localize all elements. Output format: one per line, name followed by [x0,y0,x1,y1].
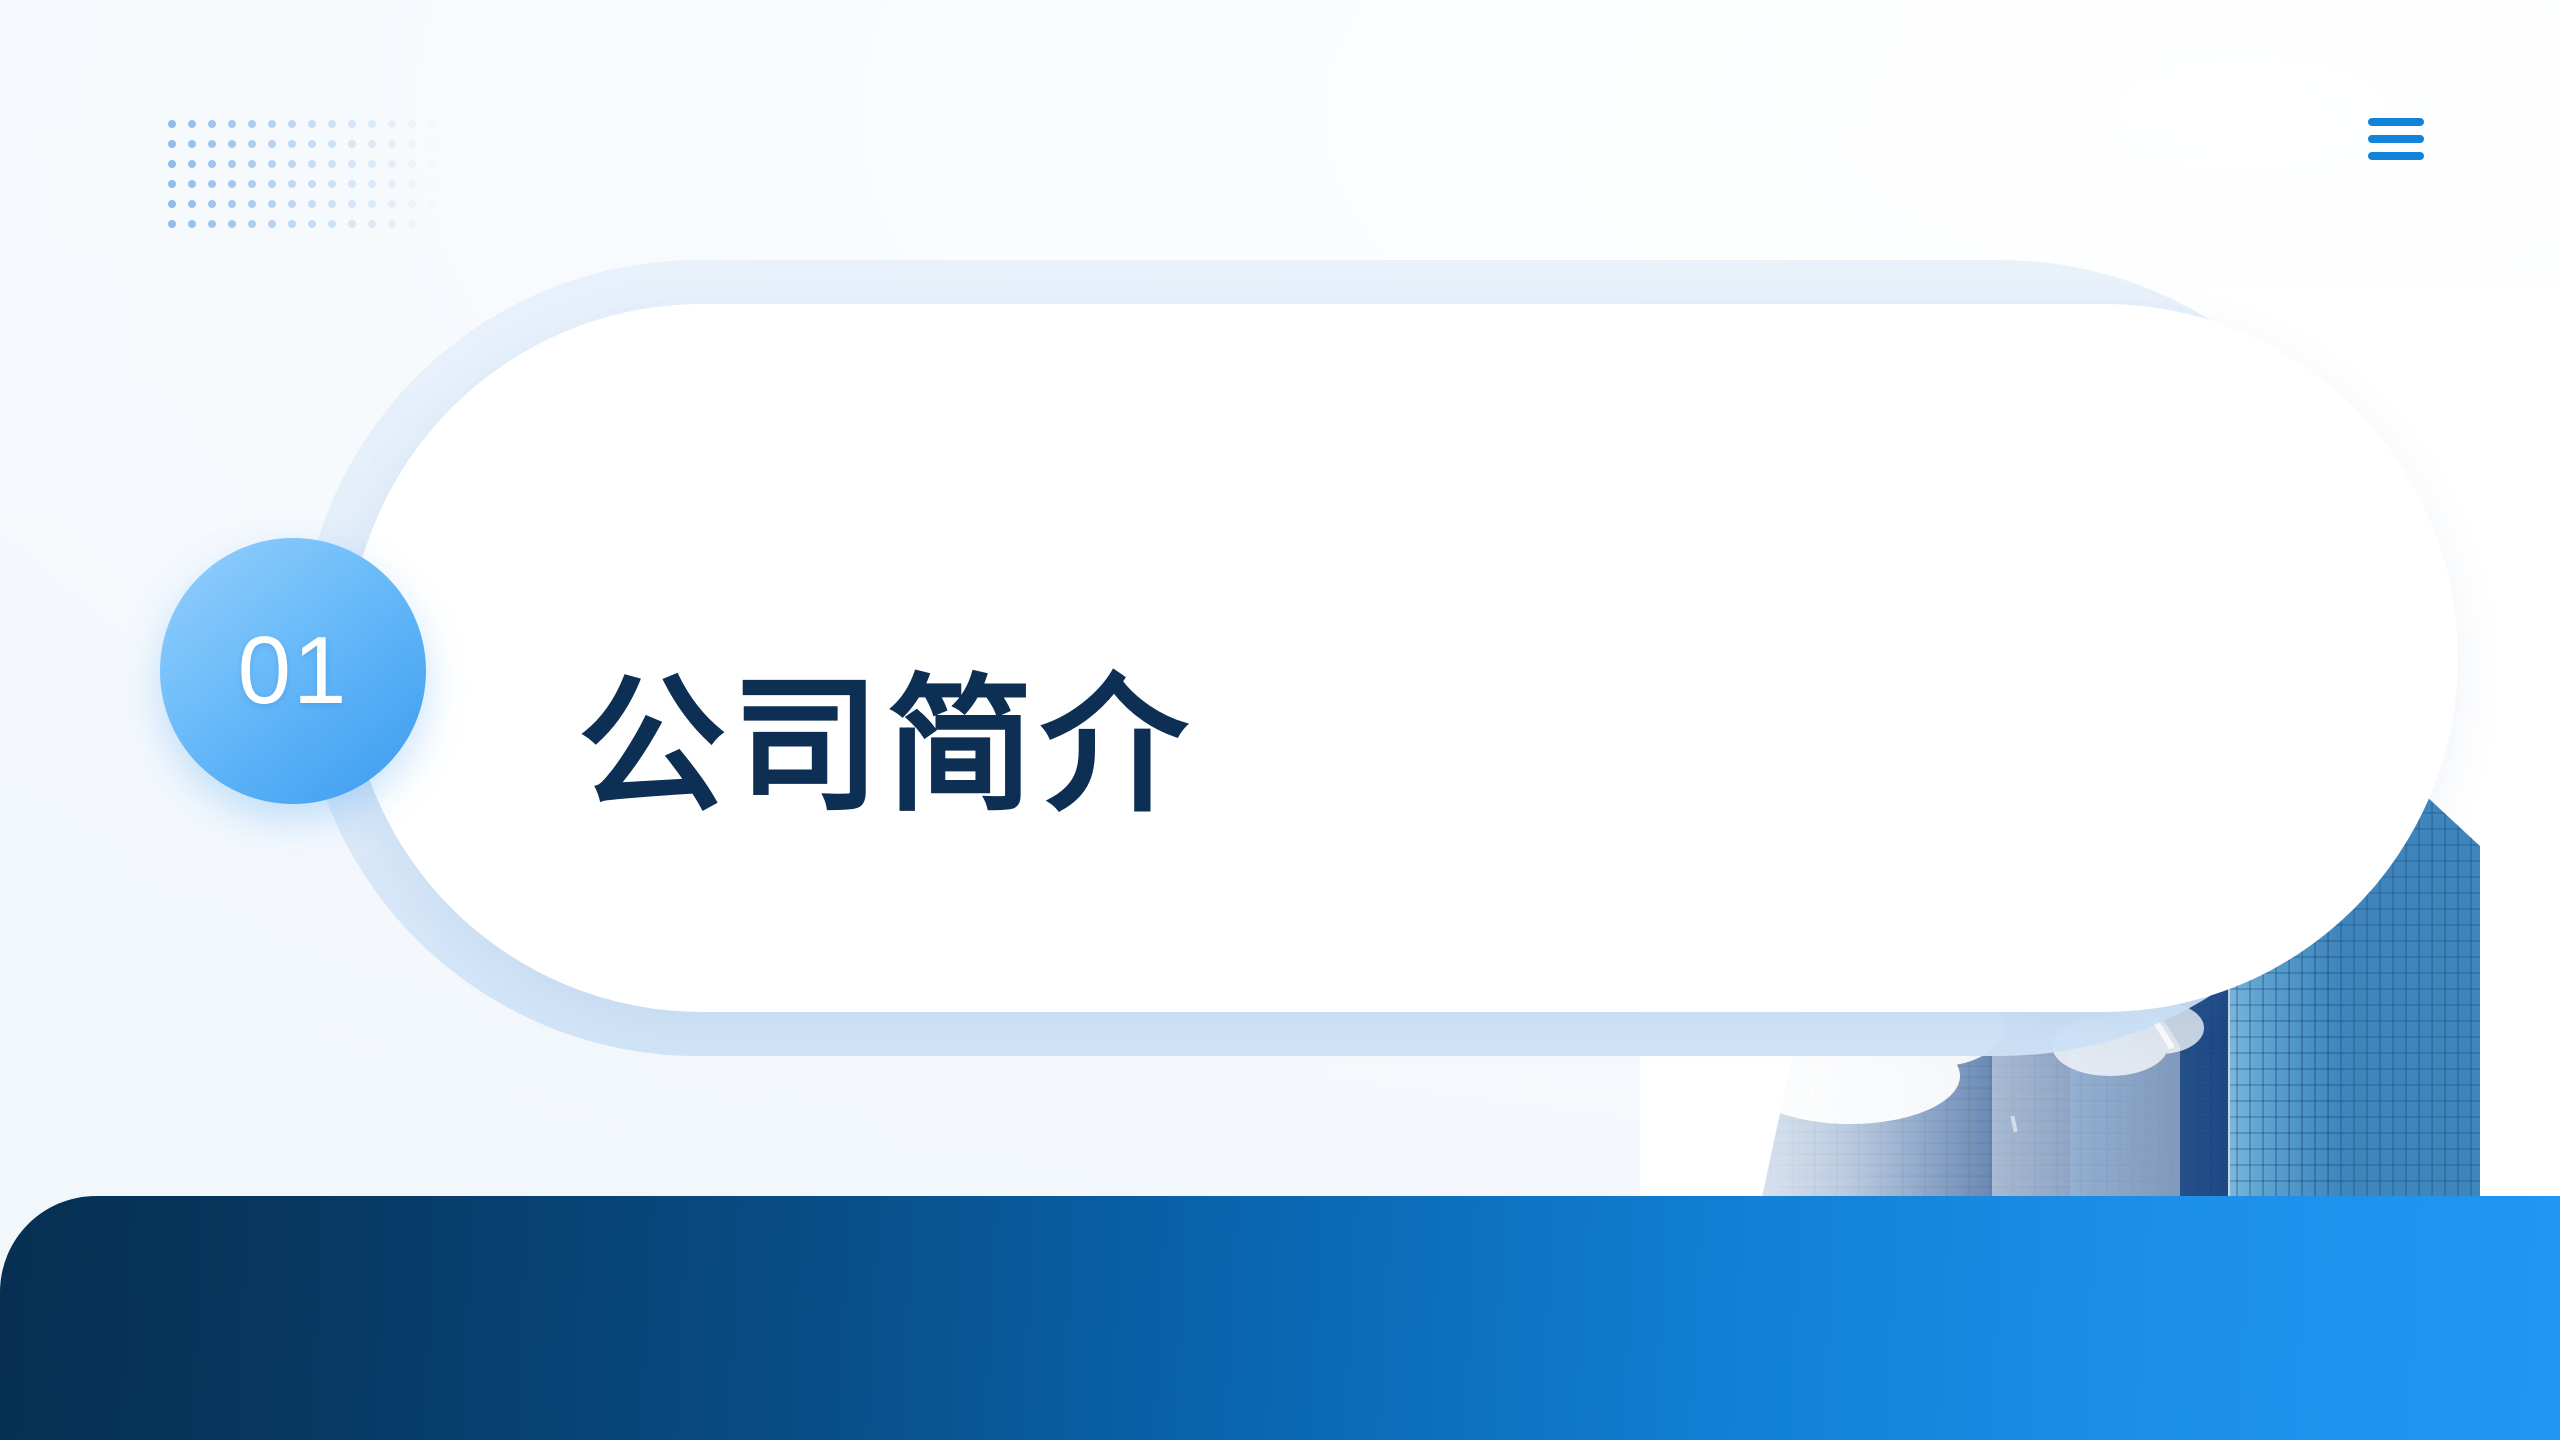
grid-dot [188,220,196,228]
section-number-badge[interactable]: 01 [160,538,426,804]
grid-dot [168,120,176,128]
grid-dot [408,160,416,168]
grid-dot [328,160,336,168]
grid-dot [248,220,256,228]
grid-dot [388,140,396,148]
dot-grid-top-left [168,120,468,250]
grid-dot [428,120,436,128]
grid-dot [248,140,256,148]
grid-dot [248,120,256,128]
grid-dot [208,200,216,208]
grid-dot [428,160,436,168]
grid-dot [288,160,296,168]
grid-dot [208,220,216,228]
grid-dot [428,180,436,188]
grid-dot [188,200,196,208]
grid-dot [188,180,196,188]
grid-dot [248,160,256,168]
grid-dot [308,200,316,208]
grid-dot [168,160,176,168]
grid-dot [268,120,276,128]
grid-dot [268,220,276,228]
menu-bar-1 [2368,118,2424,126]
grid-dot [408,120,416,128]
grid-dot [308,160,316,168]
grid-dot [368,120,376,128]
grid-dot [348,220,356,228]
grid-dot [228,160,236,168]
grid-dot [328,200,336,208]
grid-dot [308,220,316,228]
grid-dot [428,140,436,148]
grid-dot [268,200,276,208]
grid-dot [288,220,296,228]
grid-dot [188,140,196,148]
grid-dot [348,160,356,168]
grid-dot [348,140,356,148]
grid-dot [168,180,176,188]
hamburger-menu-icon[interactable] [2368,118,2424,160]
grid-dot [268,140,276,148]
page-title: 公司简介 [578,659,1194,834]
grid-dot [348,120,356,128]
grid-dot [228,180,236,188]
grid-dot [308,140,316,148]
grid-dot [288,120,296,128]
section-number-label: 01 [238,623,349,719]
grid-dot [388,200,396,208]
grid-dot [228,200,236,208]
grid-dot [328,120,336,128]
grid-dot [408,220,416,228]
grid-dot [188,160,196,168]
grid-dot [328,220,336,228]
grid-dot [308,180,316,188]
grid-dot [328,140,336,148]
grid-dot [168,220,176,228]
grid-dot [208,180,216,188]
grid-dot [328,180,336,188]
grid-dot [268,180,276,188]
grid-dot [168,200,176,208]
grid-dot [368,180,376,188]
grid-dot [368,220,376,228]
grid-dot [408,200,416,208]
grid-dot [428,220,436,228]
grid-dot [388,180,396,188]
grid-dot [188,120,196,128]
grid-dot [228,120,236,128]
grid-dot [388,160,396,168]
grid-dot [208,160,216,168]
grid-dot [288,180,296,188]
grid-dot [428,200,436,208]
grid-dot [288,200,296,208]
grid-dot [208,140,216,148]
menu-bar-2 [2368,135,2424,143]
grid-dot [368,200,376,208]
grid-dot [388,220,396,228]
slide-root: 01 公司简介 [0,0,2560,1440]
grid-dot [268,160,276,168]
content-pill-card [348,304,2458,1012]
grid-dot [408,180,416,188]
grid-dot [308,120,316,128]
grid-dot [248,180,256,188]
footer-band [0,1196,2560,1440]
grid-dot [368,160,376,168]
grid-dot [248,200,256,208]
grid-dot [408,140,416,148]
grid-dot [348,200,356,208]
grid-dot [208,120,216,128]
menu-bar-3 [2368,152,2424,160]
grid-dot [388,120,396,128]
grid-dot [348,180,356,188]
grid-dot [368,140,376,148]
grid-dot [228,220,236,228]
grid-dot [228,140,236,148]
grid-dot [168,140,176,148]
grid-dot [288,140,296,148]
